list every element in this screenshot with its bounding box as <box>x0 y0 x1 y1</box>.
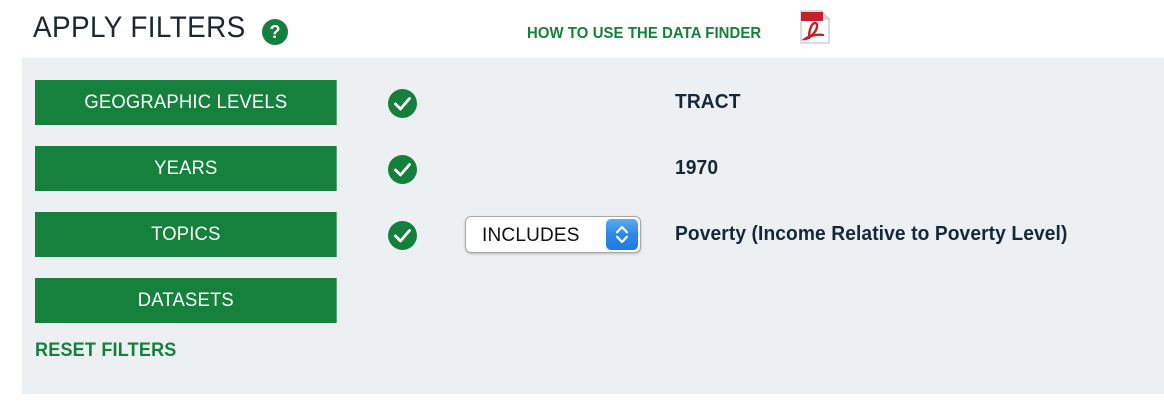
filter-button-datasets[interactable]: DATASETS <box>35 278 337 323</box>
filter-row: GEOGRAPHIC LEVELS TRACT <box>22 80 1164 125</box>
filter-row: YEARS 1970 <box>22 146 1164 191</box>
filter-value-geographic-levels: TRACT <box>675 80 741 125</box>
apply-filters-panel: GEOGRAPHIC LEVELS TRACT YEARS 1970 TOPIC… <box>22 58 1164 394</box>
filter-value-topics: Poverty (Income Relative to Poverty Leve… <box>675 212 1067 257</box>
page-header: APPLY FILTERS ? HOW TO USE THE DATA FIND… <box>0 0 1164 58</box>
filter-button-topics[interactable]: TOPICS <box>35 212 337 257</box>
how-to-use-data-finder-link[interactable]: HOW TO USE THE DATA FINDER <box>527 25 761 43</box>
pdf-document-icon[interactable] <box>800 10 830 44</box>
page-title: APPLY FILTERS <box>33 11 246 45</box>
topics-operator-select[interactable]: INCLUDES <box>465 216 641 253</box>
filter-row: TOPICS INCLUDES Poverty (Income Relative… <box>22 212 1164 257</box>
chevron-up-down-icon[interactable] <box>606 219 638 250</box>
reset-filters-link[interactable]: RESET FILTERS <box>35 340 177 362</box>
filter-value-years: 1970 <box>675 146 718 191</box>
filter-button-geographic-levels[interactable]: GEOGRAPHIC LEVELS <box>35 80 337 125</box>
check-circle-icon <box>388 155 417 184</box>
check-circle-icon <box>388 221 417 250</box>
topics-operator-value: INCLUDES <box>482 217 580 254</box>
filter-row: DATASETS <box>22 278 1164 323</box>
topics-operator-select-wrapper: INCLUDES <box>465 216 641 253</box>
check-circle-icon <box>388 89 417 118</box>
question-mark-icon[interactable]: ? <box>262 19 288 45</box>
filter-button-years[interactable]: YEARS <box>35 146 337 191</box>
